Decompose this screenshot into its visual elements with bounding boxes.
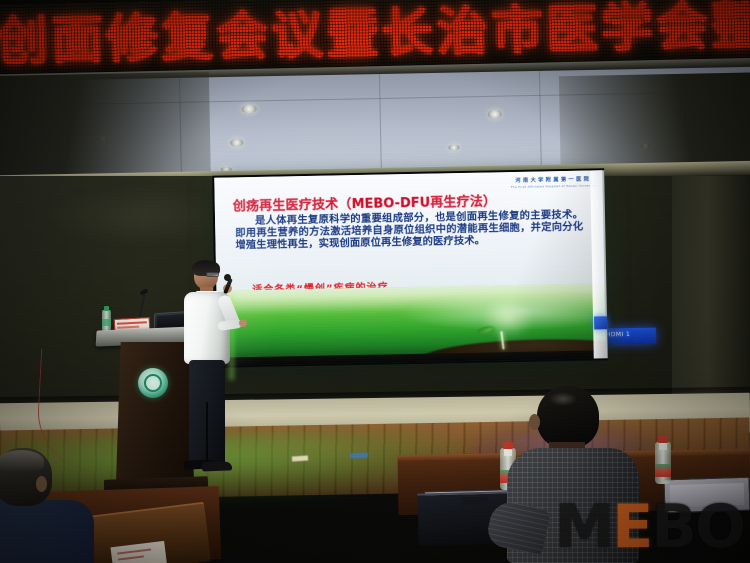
projector-osd-strip: HDMI 1	[600, 328, 656, 345]
desk-water-bottle	[655, 442, 671, 484]
podium-water-bottle	[102, 310, 111, 332]
audience-member-center	[505, 386, 640, 563]
bottle-neck	[659, 442, 667, 450]
projection-screen-frame: 河南大学附属第一医院 The First Affiliated Hospital…	[212, 168, 608, 367]
speaker-leg-separation	[206, 402, 208, 460]
glasses-icon	[206, 272, 219, 277]
ceiling-downlight	[242, 104, 257, 113]
ceiling-downlight	[230, 139, 243, 147]
slide-title-suffix: 再生疗法）	[430, 194, 496, 210]
projection-screen: 河南大学附属第一医院 The First Affiliated Hospital…	[214, 170, 606, 365]
bottle-label	[655, 464, 671, 477]
nameplate-line	[117, 321, 147, 325]
slide-body-text: 是人体再生复原科学的重要组成部分，也是创面再生修复的主要技术。即用再生营养的方法…	[235, 209, 584, 252]
floor-blue-card	[350, 453, 368, 459]
photo-haze	[216, 286, 604, 314]
bottle-cap-icon	[104, 306, 109, 311]
podium-emblem-icon	[138, 368, 168, 398]
slide-title-prefix: 创疡再生医疗技术（	[233, 197, 352, 214]
audience-member-left	[0, 448, 134, 563]
ceiling-seam	[539, 71, 542, 179]
speaker-shoe	[202, 461, 232, 471]
audience-navy-shirt	[0, 500, 94, 563]
photo-sunlight-glow	[480, 296, 535, 341]
audience-gray-hair	[0, 450, 44, 472]
conference-control-unit	[462, 497, 488, 506]
audience-hair-highlight	[549, 392, 577, 406]
speaker-presenter	[176, 262, 240, 482]
conference-hall-photo: 创面修复会议暨长治市医学会整形美容专业委 HDMI 1 河南大学附属第一医院	[0, 0, 750, 563]
slide-title-en: MEBO-DFU	[351, 196, 430, 213]
audience-ear	[36, 476, 47, 492]
microphone-head-icon	[224, 274, 231, 281]
bottle-cap-icon	[658, 436, 668, 443]
projector-osd-label: HDMI 1	[606, 331, 630, 338]
screen-corner-indicator	[594, 316, 607, 329]
ceiling-seam	[379, 74, 382, 182]
wall-light-reflection	[40, 186, 240, 246]
desk-document-sheet	[670, 483, 745, 507]
bottle-label	[102, 319, 111, 326]
podium-emblem-inner-ring	[144, 374, 162, 392]
ceiling-downlight	[488, 110, 502, 119]
speaker-pointing-hand	[239, 319, 247, 327]
handout-line	[117, 548, 151, 554]
audience-ear	[529, 414, 540, 430]
ceiling-downlight	[448, 144, 459, 150]
handout-line	[118, 555, 144, 560]
